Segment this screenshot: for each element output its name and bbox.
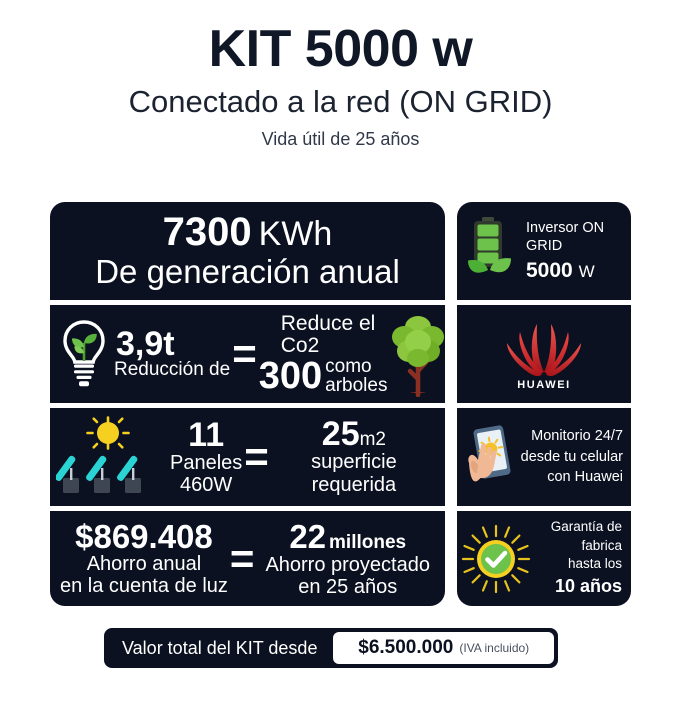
- content-grid: 7300 KWh De generación anual: [50, 202, 631, 606]
- generation-unit: KWh: [259, 217, 333, 251]
- hand-phone-sun-icon: [461, 419, 519, 495]
- huawei-logo-icon: [496, 318, 592, 376]
- card-monitoring: Monitorio 24/7 desde tu celular con Huaw…: [457, 408, 631, 506]
- panels-area-group: 25m2 superficie requerida: [271, 417, 437, 497]
- panels-area-unit: m2: [360, 429, 386, 450]
- panels-label-2: 460W: [170, 474, 242, 496]
- panels-stats: 11 Paneles 460W: [170, 418, 242, 496]
- co2-stats: 3,9t Reducción de: [114, 328, 230, 380]
- panels-count: 11: [170, 418, 242, 452]
- price-amount: $6.500.000: [358, 637, 453, 659]
- right-column: Inversor ON GRID 5000 W: [457, 202, 631, 606]
- card-inverter: Inversor ON GRID 5000 W: [457, 202, 631, 300]
- savings-amount: $869.408: [60, 520, 228, 554]
- card-brand: HUAWEI: [457, 305, 631, 403]
- card-panels: 11 Paneles 460W = 25m2 superficie requer…: [50, 408, 445, 506]
- warranty-years: 10 años: [531, 575, 622, 598]
- card-savings: $869.408 Ahorro anual en la cuenta de lu…: [50, 511, 445, 606]
- price-value-box: $6.500.000 (IVA incluido): [333, 632, 554, 664]
- panels-label-1: Paneles: [170, 452, 242, 474]
- monitoring-line-3: con Huawei: [519, 467, 623, 488]
- panels-area-caption: superficie requerida: [271, 451, 437, 497]
- page-title: KIT 5000 w: [0, 22, 681, 77]
- co2-value: 3,9t: [116, 328, 230, 360]
- solar-panels-sun-icon: [56, 416, 164, 498]
- panels-area-row: 25m2: [271, 417, 437, 451]
- savings-projected-caption-2: en 25 años: [256, 576, 439, 598]
- savings-projected-value: 22: [289, 518, 326, 555]
- savings-equals-sign: =: [230, 538, 255, 580]
- co2-caption-1: Reducción de: [114, 360, 230, 380]
- co2-trees-label: como arboles: [322, 357, 387, 395]
- header: KIT 5000 w Conectado a la red (ON GRID) …: [0, 0, 681, 150]
- co2-trees-row: 300 como arboles: [259, 357, 388, 395]
- co2-right-text: Reduce el Co2 300 como arboles: [259, 313, 388, 395]
- panels-area-value: 25: [322, 415, 360, 453]
- co2-equals-sign: =: [232, 333, 257, 375]
- generation-value-row: 7300 KWh: [163, 212, 333, 252]
- sun-check-icon: [461, 524, 531, 594]
- monitoring-line-2: desde tu celular: [519, 447, 623, 468]
- panel-glyph-2: [85, 455, 110, 493]
- savings-caption-1: Ahorro anual: [60, 553, 228, 575]
- warranty-text: Garantía de fabrica hasta los 10 años: [531, 518, 631, 598]
- savings-left-group: $869.408 Ahorro anual en la cuenta de lu…: [56, 520, 228, 598]
- co2-left-group: 3,9t Reducción de: [56, 317, 230, 391]
- inverter-power-unit: W: [579, 262, 595, 281]
- sun-glyph: [88, 418, 129, 449]
- price-label: Valor total del KIT desde: [108, 638, 333, 659]
- monitoring-text: Monitorio 24/7 desde tu celular con Huaw…: [519, 426, 631, 488]
- co2-trees-label-1: como: [325, 357, 387, 376]
- card-warranty: Garantía de fabrica hasta los 10 años: [457, 511, 631, 606]
- infographic-page: KIT 5000 w Conectado a la red (ON GRID) …: [0, 0, 681, 720]
- tree-icon: [387, 311, 445, 397]
- page-tagline: Vida útil de 25 años: [0, 129, 681, 150]
- battery-leaf-icon: [463, 212, 523, 290]
- generation-value: 7300: [163, 212, 252, 252]
- inverter-text: Inversor ON GRID 5000 W: [526, 219, 631, 284]
- monitoring-line-1: Monitorio 24/7: [519, 426, 623, 447]
- savings-right-group: 22millones Ahorro proyectado en 25 años: [256, 520, 439, 598]
- savings-projected-caption-1: Ahorro proyectado: [256, 554, 439, 576]
- lightbulb-leaf-icon: [56, 317, 112, 391]
- price-tax-note: (IVA incluido): [459, 641, 529, 655]
- warranty-line-1: Garantía de fabrica: [531, 518, 622, 554]
- co2-trees-label-2: arboles: [325, 376, 387, 395]
- inverter-power: 5000 W: [526, 258, 631, 283]
- panel-glyph-1: [56, 455, 79, 493]
- savings-projected-unit: millones: [329, 532, 406, 553]
- generation-caption: De generación anual: [95, 254, 400, 290]
- card-co2: 3,9t Reducción de = Reduce el Co2 300 co…: [50, 305, 445, 403]
- left-column: 7300 KWh De generación anual: [50, 202, 445, 606]
- co2-trees-value: 300: [259, 358, 322, 394]
- panels-equals-sign: =: [244, 436, 269, 478]
- brand-name: HUAWEI: [517, 379, 571, 391]
- warranty-line-2: hasta los: [531, 555, 622, 573]
- savings-projected-row: 22millones: [256, 520, 439, 554]
- savings-caption-2: en la cuenta de luz: [60, 575, 228, 597]
- inverter-label: Inversor ON GRID: [526, 219, 631, 257]
- co2-right-group: Reduce el Co2 300 como arboles: [259, 311, 445, 397]
- inverter-power-value: 5000: [526, 259, 573, 282]
- total-price-bar: Valor total del KIT desde $6.500.000 (IV…: [104, 628, 558, 668]
- co2-right-heading: Reduce el Co2: [281, 313, 388, 357]
- page-subtitle: Conectado a la red (ON GRID): [0, 85, 681, 119]
- panel-glyph-3: [116, 455, 141, 493]
- card-generation: 7300 KWh De generación anual: [50, 202, 445, 300]
